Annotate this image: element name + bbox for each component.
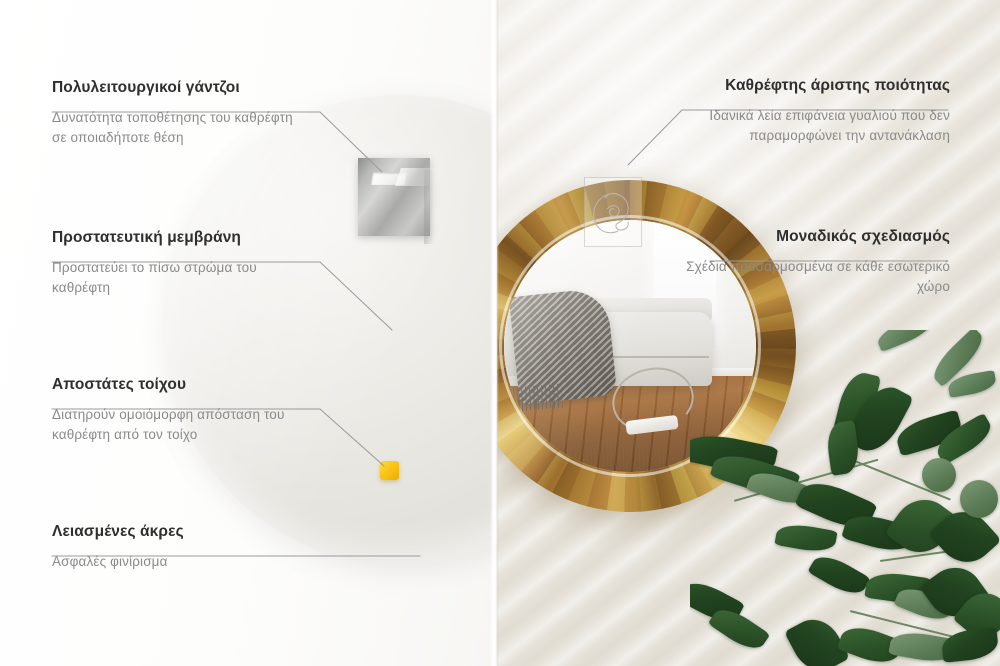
- callout-title: Πολυλειτουργικοί γάντζοι: [52, 78, 302, 97]
- leaf: [874, 330, 935, 352]
- mounting-hook-glare: [395, 168, 437, 186]
- callout-body: Σχέδια προσαρμοσμένα σε κάθε εσωτερικό χ…: [660, 257, 950, 296]
- leaf: [807, 549, 870, 601]
- callout-body: Ιδανικά λεία επιφάνεια γυαλιού που δεν π…: [640, 106, 950, 145]
- mirror-back-sheen: [165, 95, 497, 565]
- callout-title: Λειασμένες άκρες: [52, 522, 302, 541]
- leaf: [941, 627, 1000, 663]
- callout-body: Διατηρούν ομοιόμορφη απόσταση του καθρέφ…: [52, 405, 302, 444]
- callout-title: Καθρέφτης άριστης ποιότητας: [640, 76, 950, 95]
- callout-wall-spacers: Αποστάτες τοίχου Διατηρούν ομοιόμορφη απ…: [52, 375, 302, 445]
- foliage-decoration: [690, 330, 1000, 666]
- callout-title: Μοναδικός σχεδιασμός: [660, 227, 950, 246]
- infographic-stage: Πολυλειτουργικοί γάντζοι Δυνατότητα τοπο…: [0, 0, 1000, 666]
- leaf: [774, 521, 837, 555]
- callout-body: Ασφαλές φινίρισμα: [52, 552, 302, 572]
- line-art-decal: [585, 178, 641, 246]
- callout-multifunctional-hooks: Πολυλειτουργικοί γάντζοι Δυνατότητα τοπο…: [52, 78, 302, 148]
- leaf: [922, 458, 956, 492]
- callout-top-quality-mirror: Καθρέφτης άριστης ποιότητας Ιδανικά λεία…: [640, 76, 950, 146]
- panel-split-edge: [490, 0, 499, 666]
- callout-body: Δυνατότητα τοποθέτησης του καθρέφτη σε ο…: [52, 108, 302, 147]
- wall-spacer-yellow: [380, 461, 399, 480]
- callout-protective-membrane: Προστατευτική μεμβράνη Προστατεύει το πί…: [52, 228, 302, 298]
- callout-smoothed-edges: Λειασμένες άκρες Ασφαλές φινίρισμα: [52, 522, 302, 572]
- callout-title: Προστατευτική μεμβράνη: [52, 228, 302, 247]
- callout-body: Προστατεύει το πίσω στρώμα του καθρέφτη: [52, 258, 302, 297]
- callout-title: Αποστάτες τοίχου: [52, 375, 302, 394]
- callout-unique-design: Μοναδικός σχεδιασμός Σχέδια προσαρμοσμέν…: [660, 227, 950, 297]
- leaf: [960, 480, 998, 518]
